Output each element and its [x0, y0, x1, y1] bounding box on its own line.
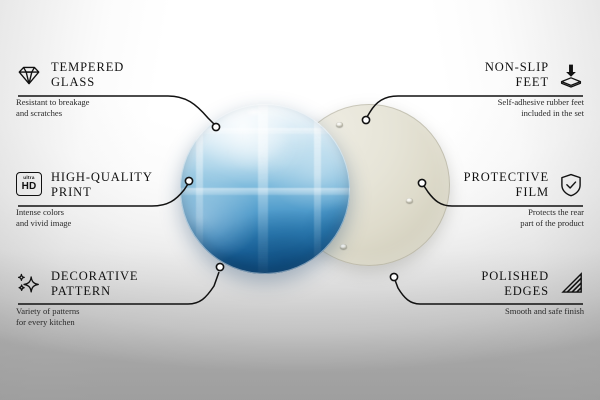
feature-header: DECORATIVE PATTERN [16, 269, 221, 299]
feature-description: Self-adhesive rubber feet included in th… [379, 97, 584, 119]
feature-header: POLISHED EDGES [379, 269, 584, 299]
feature-non-slip-feet: NON-SLIP FEET Self-adhesive rubber feet … [379, 60, 584, 119]
feature-description: Resistant to breakage and scratches [16, 97, 221, 119]
feature-header: PROTECTIVE FILM [379, 170, 584, 200]
diamond-icon [16, 62, 42, 88]
ultra-hd-badge-large-text: HD [22, 182, 37, 192]
shield-check-icon [558, 172, 584, 198]
infographic-canvas: TEMPERED GLASS Resistant to breakage and… [0, 0, 600, 400]
feature-protective-film: PROTECTIVE FILM Protects the rear part o… [379, 170, 584, 229]
sparkle-icon [16, 271, 42, 297]
feature-tempered-glass: TEMPERED GLASS Resistant to breakage and… [16, 60, 221, 119]
feature-title: NON-SLIP FEET [485, 60, 549, 90]
feature-decorative-pattern: DECORATIVE PATTERN Variety of patterns f… [16, 269, 221, 328]
feature-title: HIGH-QUALITY PRINT [51, 170, 153, 200]
feature-title: PROTECTIVE FILM [464, 170, 549, 200]
feature-description: Smooth and safe finish [379, 306, 584, 317]
ultra-hd-badge: ultra HD [16, 172, 42, 196]
feature-title: POLISHED EDGES [481, 269, 549, 299]
feature-title: DECORATIVE PATTERN [51, 269, 138, 299]
feature-title: TEMPERED GLASS [51, 60, 124, 90]
feature-high-quality-print: ultra HD HIGH-QUALITY PRINT Intense colo… [16, 170, 221, 229]
arrow-down-onto-pad-icon [558, 62, 584, 88]
ultra-hd-icon: ultra HD [16, 172, 42, 198]
hatched-triangle-icon [558, 271, 584, 297]
feature-polished-edges: POLISHED EDGES Smooth and safe finish [379, 269, 584, 317]
feature-header: TEMPERED GLASS [16, 60, 221, 90]
feature-header: NON-SLIP FEET [379, 60, 584, 90]
feature-header: ultra HD HIGH-QUALITY PRINT [16, 170, 221, 200]
feature-description: Variety of patterns for every kitchen [16, 306, 221, 328]
feature-description: Intense colors and vivid image [16, 207, 221, 229]
feature-description: Protects the rear part of the product [379, 207, 584, 229]
